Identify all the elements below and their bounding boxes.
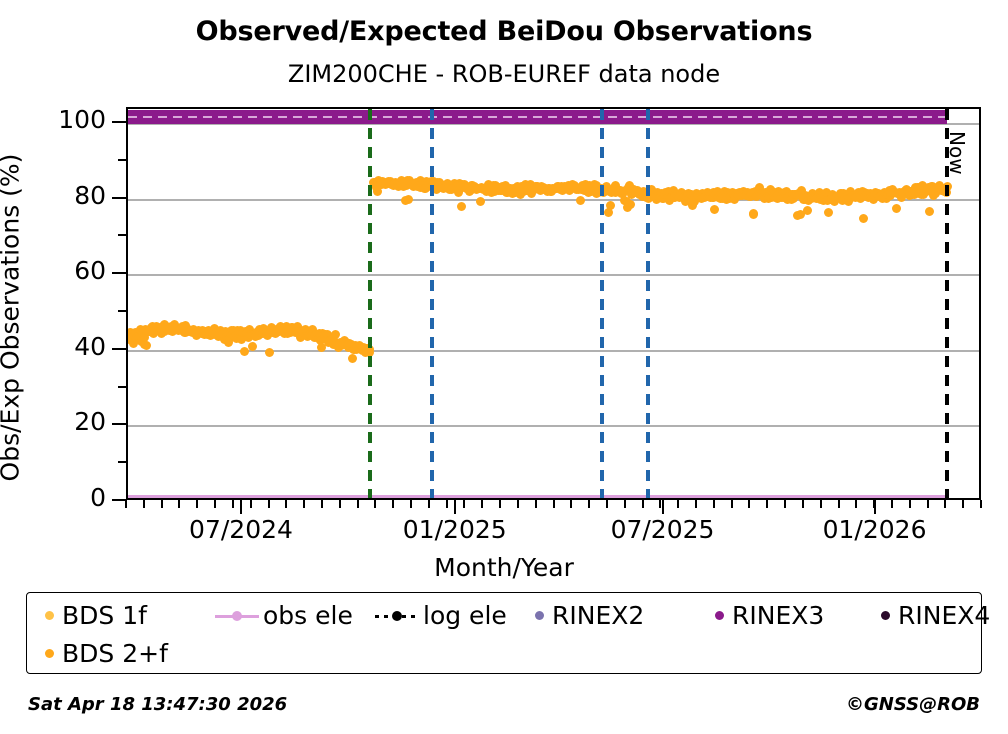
- chart-subtitle: ZIM200CHE - ROB-EUREF data node: [0, 60, 1008, 88]
- x-tick-minor: [357, 500, 359, 508]
- x-tick-minor: [463, 500, 465, 508]
- legend-marker-dot-icon: [535, 611, 544, 620]
- x-tick-minor: [677, 500, 679, 508]
- x-tick-01/2025: [454, 500, 456, 514]
- x-tick-minor: [891, 500, 893, 508]
- x-tick-minor: [535, 500, 537, 508]
- x-tick-minor: [232, 500, 234, 508]
- x-tick-minor: [588, 500, 590, 508]
- chart-title: Observed/Expected BeiDou Observations: [0, 16, 1008, 47]
- data-point: [824, 208, 833, 217]
- legend-marker-dot-icon: [715, 611, 724, 620]
- x-tick-minor: [196, 500, 198, 508]
- x-tick-minor: [285, 500, 287, 508]
- legend-item-obs-ele[interactable]: obs ele: [215, 601, 353, 630]
- y-tick-label-40: 40: [74, 332, 106, 361]
- legend-item-label: log ele: [423, 601, 507, 630]
- data-point: [626, 200, 635, 209]
- x-tick-minor: [962, 500, 964, 508]
- plot-inner: Now: [128, 109, 979, 498]
- x-tick-minor: [446, 500, 448, 508]
- legend-item-label: RINEX2: [552, 601, 644, 630]
- x-tick-minor: [909, 500, 911, 508]
- x-tick-minor: [642, 500, 644, 508]
- legend-item-bds-1f[interactable]: BDS 1f: [45, 601, 147, 630]
- x-tick-minor: [927, 500, 929, 508]
- data-point: [576, 196, 585, 205]
- vline-event-3: [600, 109, 604, 498]
- legend-marker-dot-icon: [881, 611, 890, 620]
- vline-receiver-change: [368, 109, 372, 498]
- x-tick-minor: [553, 500, 555, 508]
- y-tick-label-0: 0: [90, 483, 106, 512]
- x-tick-minor: [161, 500, 163, 508]
- legend-item-log-ele[interactable]: log ele: [375, 601, 507, 630]
- y-tick-100: [112, 121, 126, 123]
- y-tick-minor-10: [118, 461, 126, 463]
- x-tick-minor: [143, 500, 145, 508]
- chart-page: Observed/Expected BeiDou Observations ZI…: [0, 0, 1008, 734]
- legend-marker-dot-icon: [45, 611, 54, 620]
- legend-marker-line-icon: [215, 609, 259, 623]
- series-rinex3-dash: [128, 116, 947, 118]
- x-tick-minor: [980, 500, 982, 508]
- x-tick-minor: [748, 500, 750, 508]
- data-point: [457, 202, 466, 211]
- data-point: [348, 354, 357, 363]
- gridline-y-60: [128, 274, 979, 276]
- x-tick-minor: [784, 500, 786, 508]
- x-tick-minor: [268, 500, 270, 508]
- legend-item-rinex2[interactable]: RINEX2: [535, 601, 644, 630]
- x-tick-minor: [178, 500, 180, 508]
- now-label: Now: [945, 131, 969, 175]
- vline-event-4: [646, 109, 650, 498]
- x-tick-01/2026: [874, 500, 876, 514]
- y-tick-20: [112, 423, 126, 425]
- data-point: [265, 348, 274, 357]
- x-tick-label-07/2025: 07/2025: [611, 515, 715, 544]
- x-tick-07/2025: [662, 500, 664, 514]
- gridline-y-20: [128, 425, 979, 427]
- data-point: [476, 197, 485, 206]
- x-tick-minor: [339, 500, 341, 508]
- data-point: [606, 201, 615, 210]
- legend-item-label: obs ele: [263, 601, 353, 630]
- x-tick-minor: [428, 500, 430, 508]
- x-tick-minor: [125, 500, 127, 508]
- plot-area[interactable]: Now: [126, 107, 981, 500]
- data-point: [859, 214, 868, 223]
- x-tick-minor: [766, 500, 768, 508]
- x-tick-label-01/2025: 01/2025: [403, 515, 507, 544]
- legend-item-bds-2-f[interactable]: BDS 2+f: [45, 639, 168, 668]
- x-tick-minor: [392, 500, 394, 508]
- y-tick-minor-70: [118, 234, 126, 236]
- y-tick-minor-30: [118, 386, 126, 388]
- legend-marker-dot-icon: [45, 649, 54, 658]
- x-tick-minor: [517, 500, 519, 508]
- legend-marker-dotted-line-icon: [375, 609, 419, 623]
- x-tick-minor: [624, 500, 626, 508]
- y-tick-40: [112, 348, 126, 350]
- y-tick-label-100: 100: [58, 105, 106, 134]
- x-tick-minor: [713, 500, 715, 508]
- y-tick-80: [112, 197, 126, 199]
- x-tick-minor: [250, 500, 252, 508]
- x-tick-minor: [695, 500, 697, 508]
- data-point: [925, 207, 934, 216]
- data-point: [404, 195, 413, 204]
- y-tick-minor-50: [118, 310, 126, 312]
- x-tick-minor: [410, 500, 412, 508]
- footer-copyright: ©GNSS@ROB: [846, 694, 980, 715]
- x-tick-07/2024: [240, 500, 242, 514]
- x-tick-minor: [838, 500, 840, 508]
- y-tick-label-20: 20: [74, 407, 106, 436]
- x-tick-label-01/2026: 01/2026: [823, 515, 927, 544]
- y-tick-60: [112, 272, 126, 274]
- x-tick-minor: [570, 500, 572, 508]
- legend-item-rinex4[interactable]: RINEX4: [881, 601, 990, 630]
- legend-item-label: BDS 1f: [62, 601, 147, 630]
- x-tick-minor: [731, 500, 733, 508]
- x-tick-minor: [214, 500, 216, 508]
- data-point: [749, 210, 758, 219]
- y-tick-0: [112, 499, 126, 501]
- legend-item-label: RINEX3: [732, 601, 824, 630]
- series-obs-ele-band: [128, 495, 947, 498]
- y-tick-label-80: 80: [74, 181, 106, 210]
- x-tick-minor: [820, 500, 822, 508]
- y-tick-minor-90: [118, 159, 126, 161]
- data-point: [803, 206, 812, 215]
- y-tick-label-60: 60: [74, 256, 106, 285]
- x-tick-minor: [606, 500, 608, 508]
- legend-item-label: BDS 2+f: [62, 639, 168, 668]
- data-point: [892, 204, 901, 213]
- x-tick-minor: [855, 500, 857, 508]
- data-point: [248, 342, 257, 351]
- x-axis-label: Month/Year: [0, 553, 1008, 582]
- vline-event-2: [430, 109, 434, 498]
- x-tick-minor: [481, 500, 483, 508]
- x-tick-minor: [374, 500, 376, 508]
- legend: BDS 1fobs elelog eleRINEX2RINEX3RINEX4BD…: [26, 592, 982, 674]
- footer-timestamp: Sat Apr 18 13:47:30 2026: [28, 694, 287, 715]
- legend-item-rinex3[interactable]: RINEX3: [715, 601, 824, 630]
- legend-item-label: RINEX4: [898, 601, 990, 630]
- x-tick-minor: [802, 500, 804, 508]
- data-point: [142, 341, 151, 350]
- gridline-y-40: [128, 350, 979, 352]
- x-tick-minor: [303, 500, 305, 508]
- data-point: [710, 205, 719, 214]
- x-tick-label-07/2024: 07/2024: [189, 515, 293, 544]
- x-tick-minor: [499, 500, 501, 508]
- x-tick-minor: [944, 500, 946, 508]
- y-axis-label: Obs/Exp Observations (%): [0, 108, 25, 528]
- x-tick-minor: [321, 500, 323, 508]
